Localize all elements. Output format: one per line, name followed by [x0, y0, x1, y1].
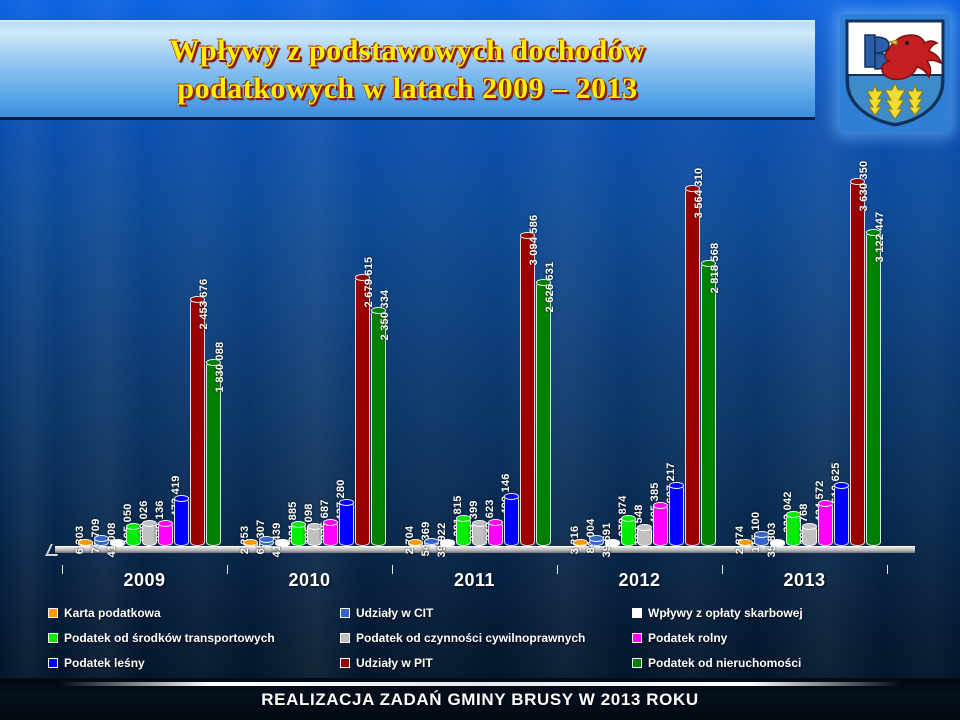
bar-value-label: 2 679 615	[363, 257, 375, 308]
bar-wrap: 41 439	[275, 542, 290, 546]
bar-wp-ywy-z-op-aty-skarbowej[interactable]	[275, 542, 290, 546]
x-axis-label-2013: 2013	[725, 570, 885, 591]
bar-wrap: 437 280	[339, 502, 354, 546]
legend-swatch-icon	[48, 608, 58, 618]
bar-group-2012: 3 21684 00439 691279 874193 548405 38560…	[573, 188, 716, 546]
bar-group-2013: 2 874115 10035 803322 042196 768424 5726…	[738, 181, 881, 546]
legend-label: Podatek od środków transportowych	[64, 631, 275, 645]
legend-item-podatek-od-czynno-ci-cywilnoprawnych[interactable]: Podatek od czynności cywilnoprawnych	[340, 631, 632, 645]
bar-podatek-le-ny[interactable]	[174, 498, 189, 546]
bar-value-label: 2 453 676	[198, 279, 210, 330]
crest-shield-icon	[845, 19, 945, 127]
bar-podatek-le-ny[interactable]	[669, 485, 684, 546]
bar-wrap: 39 922	[440, 542, 455, 546]
bar-udzia-y-w-pit[interactable]: 3 630 350	[850, 181, 865, 546]
legend-item-podatek-od-rodk-w-transportowych[interactable]: Podatek od środków transportowych	[48, 631, 340, 645]
bar-udzia-y-w-pit[interactable]: 3 094 586	[520, 235, 535, 546]
legend-label: Podatek od nieruchomości	[648, 656, 801, 670]
legend-swatch-icon	[48, 658, 58, 668]
bar-wrap: 3 094 586	[520, 235, 535, 546]
bar-value-label: 2 350 334	[379, 290, 391, 341]
bar-podatek-od-czynno-ci-cywilnoprawnych[interactable]	[802, 526, 817, 546]
bar-wrap: 2 626 631	[536, 282, 551, 546]
bar-value-label: 3 564 310	[693, 168, 705, 219]
bar-value-label: 3 094 586	[528, 215, 540, 266]
bar-wrap: 196 768	[802, 526, 817, 546]
bar-value-label: 1 830 088	[214, 342, 226, 393]
bar-podatek-le-ny[interactable]	[834, 485, 849, 546]
bar-wrap: 3 564 310	[685, 188, 700, 546]
coat-of-arms-icon	[840, 14, 950, 132]
legend-swatch-icon	[48, 633, 58, 643]
x-axis-tick	[227, 565, 228, 574]
bar-podatek-rolny[interactable]	[488, 522, 503, 546]
x-axis-label-2011: 2011	[395, 570, 555, 591]
bar-podatek-od-nieruchomo-ci[interactable]: 2 350 334	[371, 310, 386, 546]
bar-wp-ywy-z-op-aty-skarbowej[interactable]	[770, 542, 785, 546]
legend-swatch-icon	[340, 633, 350, 643]
bar-podatek-od-nieruchomo-ci[interactable]: 1 830 088	[206, 362, 221, 546]
bar-wrap: 473 419	[174, 498, 189, 546]
bar-podatek-od-nieruchomo-ci[interactable]: 3 122 447	[866, 232, 881, 546]
legend-item-wp-ywy-z-op-aty-skarbowej[interactable]: Wpływy z opłaty skarbowej	[632, 606, 918, 620]
bar-wrap: 2 453 676	[190, 299, 205, 546]
bar-wrap: 230 136	[158, 523, 173, 546]
legend-swatch-icon	[340, 608, 350, 618]
bar-value-label: 3 630 350	[858, 161, 870, 212]
bar-wp-ywy-z-op-aty-skarbowej[interactable]	[605, 542, 620, 546]
legend-item-podatek-rolny[interactable]: Podatek rolny	[632, 631, 918, 645]
bar-podatek-le-ny[interactable]	[339, 502, 354, 546]
bar-udzia-y-w-pit[interactable]: 2 453 676	[190, 299, 205, 546]
legend-item-karta-podatkowa[interactable]: Karta podatkowa	[48, 606, 340, 620]
chart-plot-area: 6 30376 70941 008195 050229 026230 13647…	[0, 140, 960, 565]
bar-wrap: 1 830 088	[206, 362, 221, 546]
bar-value-label: 2 626 631	[544, 262, 556, 313]
legend-swatch-icon	[632, 633, 642, 643]
legend-label: Podatek leśny	[64, 656, 145, 670]
legend-label: Podatek rolny	[648, 631, 727, 645]
bar-wrap: 2 679 615	[355, 277, 370, 546]
bar-group-2009: 6 30376 70941 008195 050229 026230 13647…	[78, 299, 221, 546]
bar-wrap: 2 350 334	[371, 310, 386, 546]
legend-label: Udziały w CIT	[356, 606, 433, 620]
bar-group-2010: 2 25365 30741 439221 885195 098235 68743…	[243, 277, 386, 546]
bar-podatek-od-czynno-ci-cywilnoprawnych[interactable]	[637, 527, 652, 546]
footer-text: REALIZACJA ZADAŃ GMINY BRUSY W 2013 ROKU	[0, 690, 960, 710]
bar-wrap: 39 691	[605, 542, 620, 546]
page-title: Wpływy z podstawowych dochodów podatkowy…	[170, 32, 646, 108]
legend-swatch-icon	[632, 658, 642, 668]
title-banner: Wpływy z podstawowych dochodów podatkowy…	[0, 20, 815, 120]
bar-podatek-rolny[interactable]	[818, 503, 833, 546]
bar-podatek-rolny[interactable]	[653, 505, 668, 546]
bar-wrap: 193 548	[637, 527, 652, 546]
x-axis-label-2012: 2012	[560, 570, 720, 591]
legend-item-podatek-od-nieruchomo-ci[interactable]: Podatek od nieruchomości	[632, 656, 918, 670]
bar-podatek-le-ny[interactable]	[504, 496, 519, 546]
bar-udzia-y-w-pit[interactable]: 3 564 310	[685, 188, 700, 546]
footer-divider	[60, 682, 900, 686]
bar-value-label: 2 818 568	[709, 243, 721, 294]
bar-wrap: 3 630 350	[850, 181, 865, 546]
legend-item-udzia-y-w-cit[interactable]: Udziały w CIT	[340, 606, 632, 620]
bar-wrap: 499 146	[504, 496, 519, 546]
bar-podatek-od-nieruchomo-ci[interactable]: 2 626 631	[536, 282, 551, 546]
x-axis-label-2009: 2009	[65, 570, 225, 591]
bar-wrap: 243 623	[488, 522, 503, 546]
slide-canvas: Wpływy z podstawowych dochodów podatkowy…	[0, 0, 960, 720]
bar-wrap: 35 803	[770, 542, 785, 546]
legend-swatch-icon	[340, 658, 350, 668]
bar-wrap: 610 625	[834, 485, 849, 546]
bar-udzia-y-w-pit[interactable]: 2 679 615	[355, 277, 370, 546]
x-axis: 20092010201120122013	[0, 565, 960, 597]
bar-wrap: 2 818 568	[701, 263, 716, 546]
bar-group-2011: 2 70454 36939 922281 815231 399243 62349…	[408, 235, 551, 546]
bar-wrap: 424 572	[818, 503, 833, 546]
x-axis-tick	[557, 565, 558, 574]
bar-wrap: 3 122 447	[866, 232, 881, 546]
bar-podatek-rolny[interactable]	[158, 523, 173, 546]
bar-wp-ywy-z-op-aty-skarbowej[interactable]	[440, 542, 455, 546]
legend-item-udzia-y-w-pit[interactable]: Udziały w PIT	[340, 656, 632, 670]
bar-wrap: 405 385	[653, 505, 668, 546]
legend-swatch-icon	[632, 608, 642, 618]
legend-label: Udziały w PIT	[356, 656, 433, 670]
legend-label: Karta podatkowa	[64, 606, 161, 620]
footer-bar: REALIZACJA ZADAŃ GMINY BRUSY W 2013 ROKU	[0, 678, 960, 720]
legend-item-podatek-le-ny[interactable]: Podatek leśny	[48, 656, 340, 670]
bar-podatek-rolny[interactable]	[323, 522, 338, 546]
x-axis-label-2010: 2010	[230, 570, 390, 591]
x-axis-tick	[392, 565, 393, 574]
axis-baseline	[55, 546, 915, 553]
bar-wrap: 235 687	[323, 522, 338, 546]
chart-legend: Karta podatkowaUdziały w CITWpływy z opł…	[48, 600, 918, 670]
bar-value-label: 3 122 447	[874, 212, 886, 263]
legend-label: Podatek od czynności cywilnoprawnych	[356, 631, 585, 645]
x-axis-tick	[722, 565, 723, 574]
bar-wrap: 607 217	[669, 485, 684, 546]
x-axis-tick	[62, 565, 63, 574]
legend-label: Wpływy z opłaty skarbowej	[648, 606, 803, 620]
x-axis-tick	[887, 565, 888, 574]
bar-podatek-od-nieruchomo-ci[interactable]: 2 818 568	[701, 263, 716, 546]
